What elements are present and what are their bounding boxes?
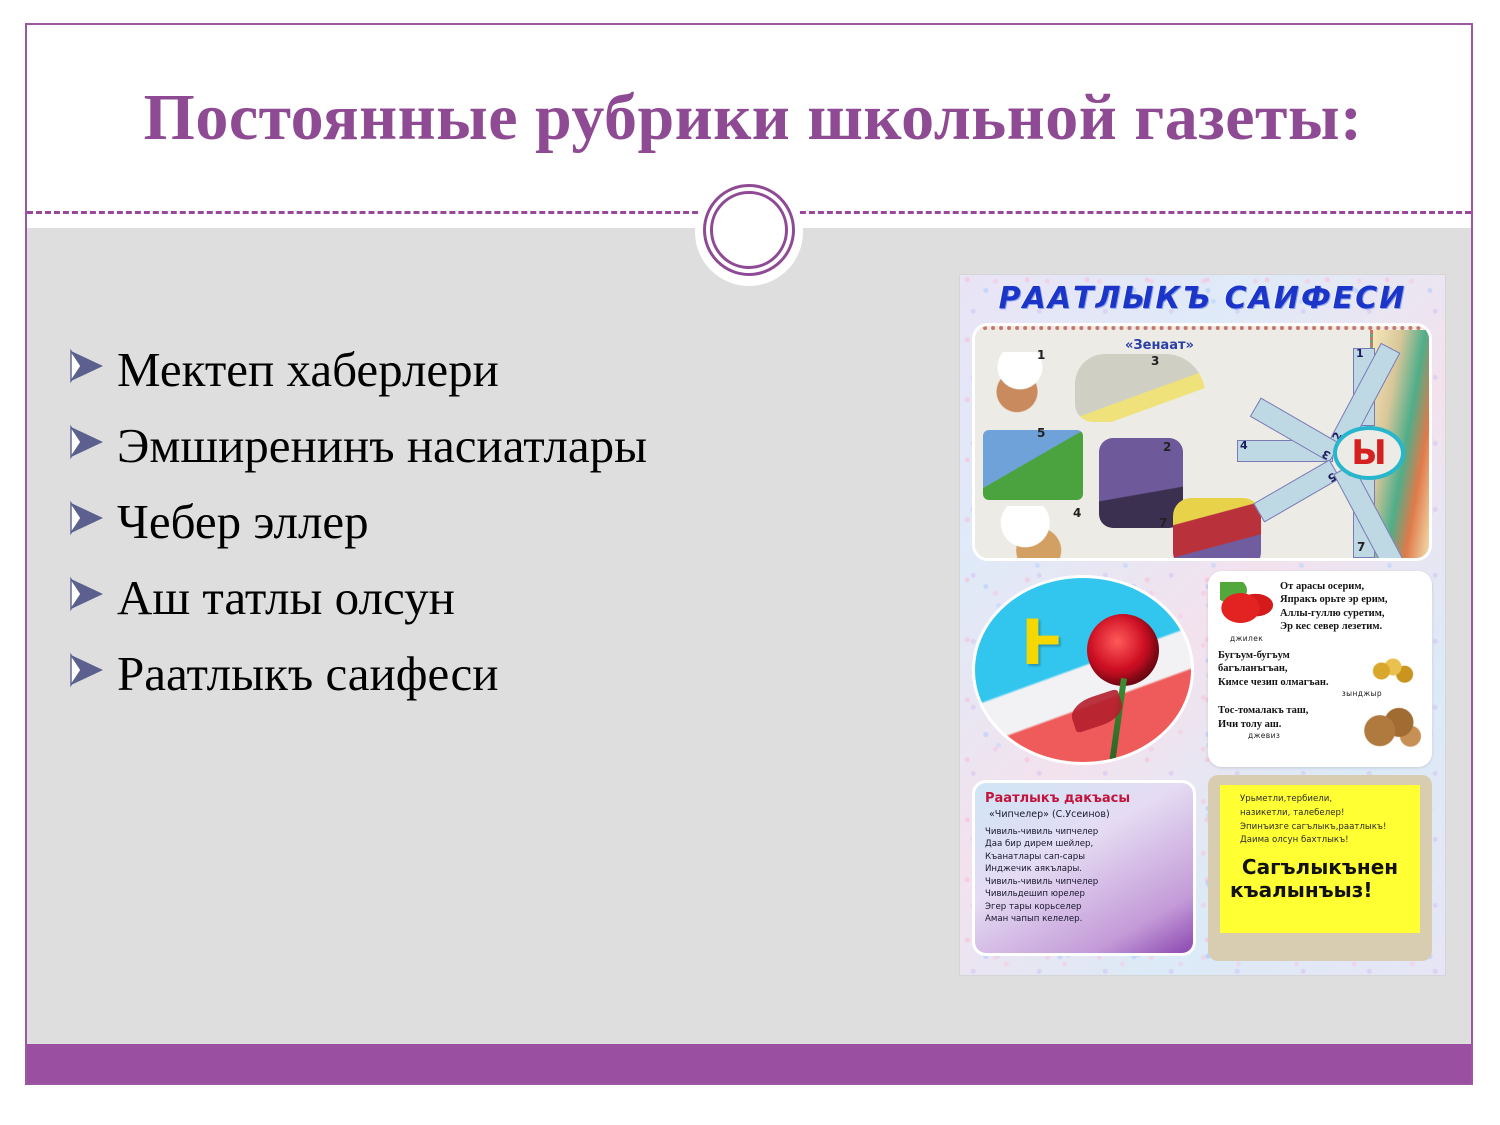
builder-figure-icon bbox=[1173, 498, 1261, 561]
figure-number: 5 bbox=[1037, 426, 1045, 440]
greeting-panel: Урьметли,тербиели, назикетли, талебелер!… bbox=[1208, 775, 1432, 961]
crossword-clue-number: 4 bbox=[1240, 439, 1248, 452]
poem-panel: Раатлыкъ дакъасы «Чипчелер» (С.Усеинов) … bbox=[972, 780, 1196, 956]
page-title: Постоянные рубрики школьной газеты: bbox=[73, 83, 1433, 152]
figure-number: 4 bbox=[1073, 506, 1081, 520]
baker-figure-icon bbox=[983, 506, 1079, 561]
greeting-headline-line2: къалынъыз! bbox=[1230, 879, 1410, 902]
riddles-panel: От арасы осерим, Япракъ орьте эр ерим, А… bbox=[1208, 571, 1432, 767]
figure-number: 2 bbox=[1163, 440, 1171, 454]
circle-inner-ring-icon bbox=[710, 191, 788, 269]
chain-icon bbox=[1364, 651, 1422, 691]
list-item-label: Аш татлы олсун bbox=[117, 571, 455, 626]
crossword-center-letter: Ы bbox=[1333, 426, 1405, 480]
list-item: Чебер эллер bbox=[67, 495, 907, 550]
list-item: Аш татлы олсун bbox=[67, 571, 907, 626]
pilot-plane-figure-icon bbox=[1075, 354, 1205, 422]
crossword-strip: 5 bbox=[1253, 459, 1340, 522]
riddle-answer: джилек bbox=[1230, 634, 1422, 643]
footer-band bbox=[27, 1044, 1471, 1083]
painter-figure-icon bbox=[983, 430, 1083, 500]
riddle-item: От арасы осерим, Япракъ орьте эр ерим, А… bbox=[1218, 580, 1422, 643]
poem-subtitle: «Чипчелер» (С.Усеинов) bbox=[985, 809, 1183, 820]
list-item-label: Раатлыкъ саифеси bbox=[117, 647, 498, 702]
crossword-clue-number: 3 bbox=[1320, 447, 1333, 462]
greeting-headline: Сагълыкънен къалынъыз! bbox=[1230, 856, 1410, 902]
riddle-text: Бугъум-бугъум багъланъгъан, Кимсе чезип … bbox=[1218, 649, 1360, 689]
slide-body: Мектеп хаберлери Эмширенинъ насиатлары bbox=[27, 228, 1471, 1048]
figure-number: 7 bbox=[1159, 516, 1167, 530]
rubrics-list: Мектеп хаберлери Эмширенинъ насиатлары bbox=[67, 343, 907, 722]
newspaper-masthead: РААТЛЫКЪ САИФЕСИ bbox=[960, 281, 1445, 316]
chef-figure-icon bbox=[983, 352, 1057, 414]
riddle-answer: зынджыр bbox=[1218, 689, 1382, 698]
arrow-bullet-icon bbox=[67, 500, 113, 536]
greeting-small-text: Урьметли,тербиели, назикетли, талебелер!… bbox=[1230, 793, 1410, 848]
list-item-label: Чебер эллер bbox=[117, 495, 369, 550]
strawberry-icon bbox=[1220, 582, 1274, 624]
riddle-text: От арасы осерим, Япракъ орьте эр ерим, А… bbox=[1280, 580, 1422, 634]
crossword-clue-number: 7 bbox=[1357, 540, 1365, 554]
tamga-emblem-icon: Ⱶ bbox=[1021, 606, 1064, 679]
list-item-label: Эмширенинъ насиатлары bbox=[117, 419, 647, 474]
figure-number: 3 bbox=[1151, 354, 1159, 368]
list-item: Раатлыкъ саифеси bbox=[67, 647, 907, 702]
list-item: Мектеп хаберлери bbox=[67, 343, 907, 398]
poem-body: Чивиль-чивиль чипчелер Даа бир дирем шей… bbox=[985, 826, 1183, 926]
list-item-label: Мектеп хаберлери bbox=[117, 343, 499, 398]
arrow-bullet-icon bbox=[67, 424, 113, 460]
presentation-slide: Постоянные рубрики школьной газеты: Мект… bbox=[25, 23, 1473, 1085]
arrow-bullet-icon bbox=[67, 348, 113, 384]
crossword-board: «Зенаат» 1 3 5 2 4 7 1 bbox=[975, 326, 1429, 558]
riddle-text: Тос-томалакъ таш, Ичи толу аш. bbox=[1218, 704, 1356, 731]
crossword-panel: «Зенаат» 1 3 5 2 4 7 1 bbox=[972, 323, 1432, 561]
greeting-note: Урьметли,тербиели, назикетли, талебелер!… bbox=[1220, 785, 1420, 933]
riddle-item: Бугъум-бугъум багъланъгъан, Кимсе чезип … bbox=[1218, 649, 1422, 698]
arrow-bullet-icon bbox=[67, 576, 113, 612]
flag-rose-photo: Ⱶ bbox=[972, 575, 1194, 765]
rose-icon bbox=[1087, 614, 1159, 686]
crossword-clue-number: 1 bbox=[1356, 347, 1364, 360]
riddle-item: Тос-томалакъ таш, Ичи толу аш. джевиз bbox=[1218, 704, 1422, 740]
figure-number: 1 bbox=[1037, 348, 1045, 362]
newspaper-page-image: РААТЛЫКЪ САИФЕСИ «Зенаат» 1 3 5 2 4 bbox=[960, 275, 1445, 975]
poem-title: Раатлыкъ дакъасы bbox=[985, 791, 1183, 806]
walnut-icon bbox=[1358, 704, 1422, 750]
arrow-bullet-icon bbox=[67, 652, 113, 688]
list-item: Эмширенинъ насиатлары bbox=[67, 419, 907, 474]
crossword-section-label: «Зенаат» bbox=[1125, 338, 1194, 353]
greeting-headline-line1: Сагълыкънен bbox=[1242, 855, 1398, 879]
